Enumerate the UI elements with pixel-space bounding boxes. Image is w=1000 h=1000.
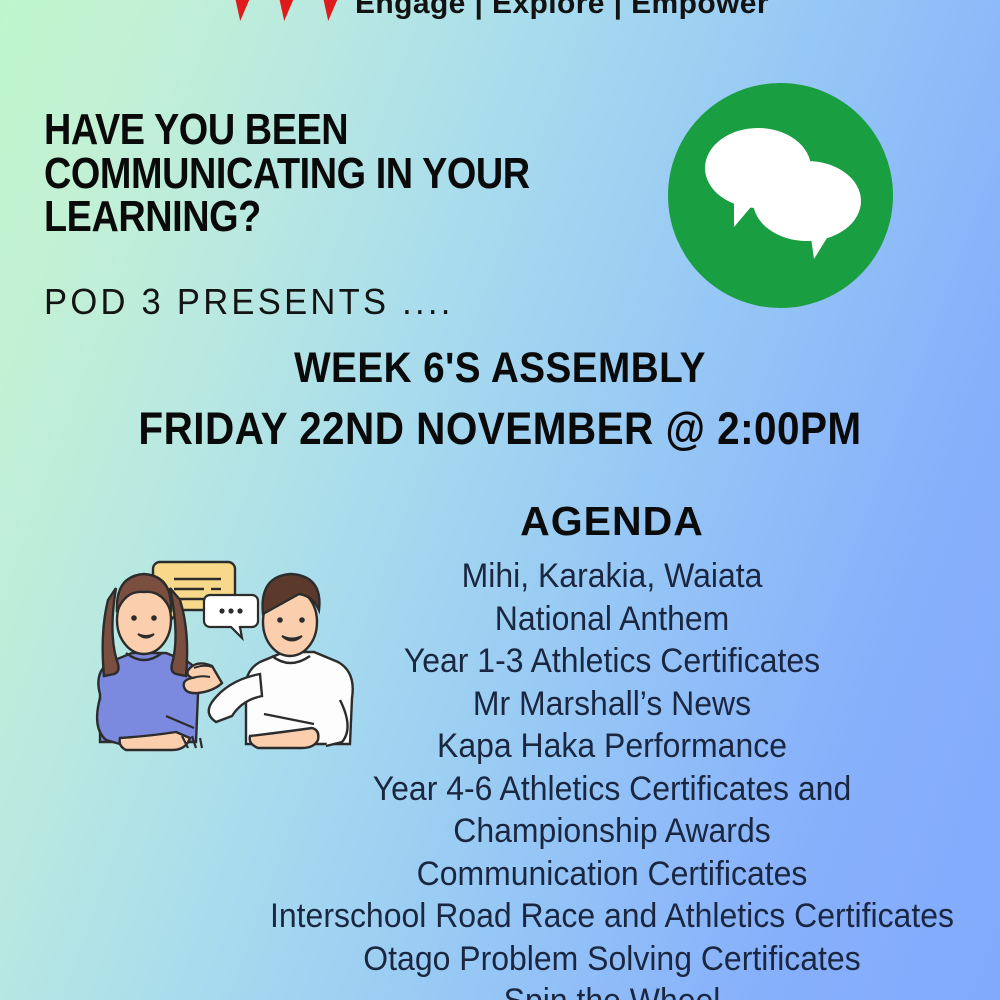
speech-bubbles-icon <box>668 83 893 308</box>
chevron-flame-icon <box>273 0 299 21</box>
headline-line-1: HAVE YOU BEEN <box>44 108 526 152</box>
agenda-heading: AGENDA <box>244 498 980 545</box>
chevron-flame-icon <box>229 0 255 21</box>
agenda-list: Mihi, Karakia, Waiata National Anthem Ye… <box>244 555 980 1000</box>
agenda-item: Year 1-3 Athletics Certificates <box>266 640 958 683</box>
agenda-item: National Anthem <box>266 598 958 641</box>
agenda-item: Otago Problem Solving Certificates <box>266 938 958 981</box>
agenda-item: Championship Awards <box>266 810 958 853</box>
assembly-title: WEEK 6'S ASSEMBLY <box>50 343 950 394</box>
headline-line-3: LEARNING? <box>44 195 526 239</box>
agenda-block: AGENDA Mihi, Karakia, Waiata National An… <box>244 498 980 1000</box>
headline-line-2: COMMUNICATING IN YOUR <box>44 152 526 196</box>
agenda-item: Year 4-6 Athletics Certificates and <box>266 768 958 811</box>
chevron-flames-group <box>231 0 341 21</box>
assembly-datetime: FRIDAY 22ND NOVEMBER @ 2:00PM <box>50 402 950 455</box>
assembly-block: WEEK 6'S ASSEMBLY FRIDAY 22ND NOVEMBER @… <box>0 343 1000 455</box>
school-tagline: Engage | Explore | Empower <box>355 0 769 21</box>
headline-block: HAVE YOU BEEN COMMUNICATING IN YOUR LEAR… <box>44 108 604 239</box>
agenda-item: Spin the Wheel <box>266 980 958 1000</box>
agenda-item: Communication Certificates <box>266 853 958 896</box>
presenter-label: POD 3 PRESENTS .... <box>44 281 454 323</box>
agenda-item: Interschool Road Race and Athletics Cert… <box>266 895 958 938</box>
agenda-item: Mihi, Karakia, Waiata <box>266 555 958 598</box>
agenda-item: Kapa Haka Performance <box>266 725 958 768</box>
chevron-flame-icon <box>317 0 343 21</box>
top-banner: Engage | Explore | Empower <box>0 0 1000 24</box>
agenda-item: Mr Marshall’s News <box>266 683 958 726</box>
